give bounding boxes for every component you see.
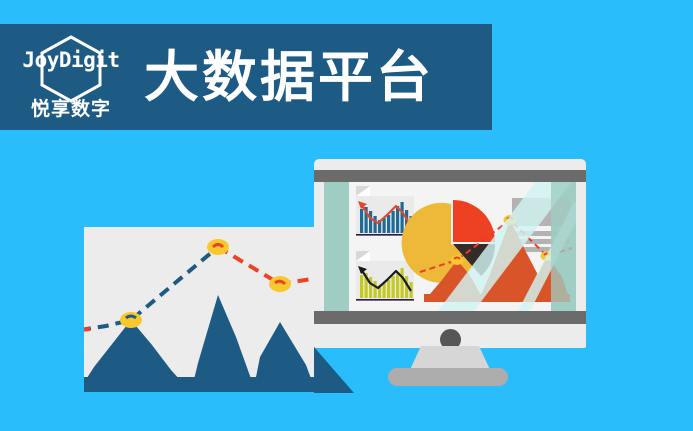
data-marker xyxy=(451,255,464,265)
poster-canvas: JoyDigit 悦享数字 大数据平台 xyxy=(0,0,693,431)
monitor-stand-base xyxy=(388,368,508,386)
mountain-base-fill xyxy=(84,377,314,392)
blue-mountain-chart-panel xyxy=(84,227,314,392)
header-banner: JoyDigit 悦享数字 大数据平台 xyxy=(0,24,492,130)
data-marker xyxy=(120,312,142,328)
monitor-shadow xyxy=(314,347,394,393)
trend-line-red xyxy=(218,247,314,284)
trend-line-red-tip xyxy=(84,329,90,330)
blue-mountain-chart-svg xyxy=(84,227,314,392)
monitor-bottom-bar xyxy=(314,311,586,324)
logo-wordmark: JoyDigit xyxy=(12,48,130,72)
monitor-top-bar xyxy=(314,170,586,182)
brand-logo: JoyDigit 悦享数字 xyxy=(12,31,130,123)
monitor-screen xyxy=(324,182,576,311)
trend-line-blue xyxy=(84,247,218,330)
data-marker xyxy=(207,239,229,255)
screen-right-strip xyxy=(551,182,576,311)
screen-left-strip xyxy=(324,182,349,311)
logo-subtitle: 悦享数字 xyxy=(12,94,130,121)
data-marker xyxy=(269,276,291,292)
desktop-monitor xyxy=(314,159,586,348)
dashboard-content-svg xyxy=(324,182,576,311)
page-title: 大数据平台 xyxy=(144,50,434,105)
